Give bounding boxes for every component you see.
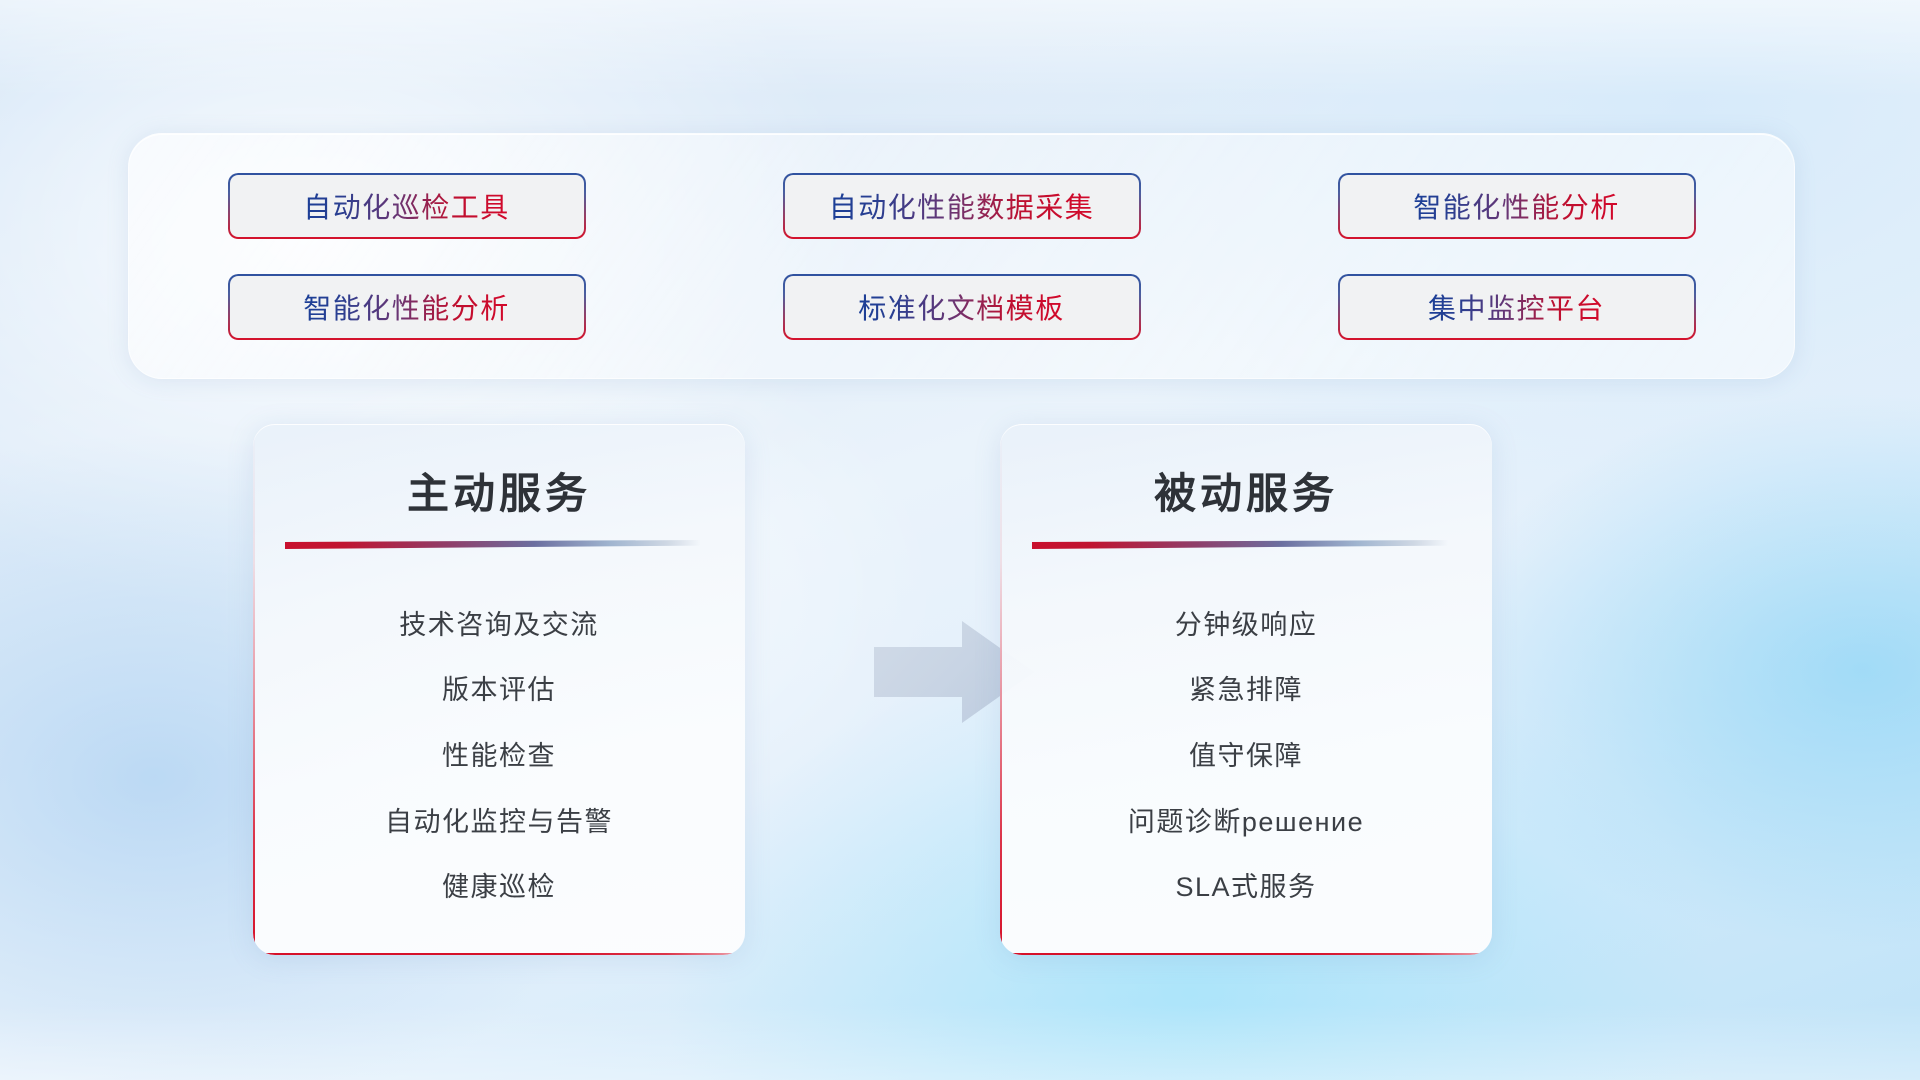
list-item: 分钟级响应 [1175, 603, 1318, 642]
capability-chip-label: 自动化巡检工具 [303, 186, 510, 226]
capability-chip-label: 智能化性能分析 [303, 287, 510, 327]
capability-chip-2[interactable]: 自动化性能数据采集 [783, 173, 1141, 239]
capability-chip-4[interactable]: 智能化性能分析 [228, 274, 586, 340]
list-item: SLA式服务 [1175, 865, 1316, 904]
capability-chips-grid: 自动化巡检工具 自动化性能数据采集 智能化性能分析 智能化性能分析 标准化文档模… [129, 134, 1794, 378]
list-item: 性能检查 [442, 734, 556, 773]
capability-chip-5[interactable]: 标准化文档模板 [783, 274, 1141, 340]
capability-chip-label: 自动化性能数据采集 [829, 186, 1095, 226]
card-title-divider [285, 540, 701, 549]
list-item: 紧急排障 [1189, 668, 1303, 707]
card-title-divider [1032, 540, 1448, 549]
capability-chips-panel: 自动化巡检工具 自动化性能数据采集 智能化性能分析 智能化性能分析 标准化文档模… [128, 133, 1795, 379]
list-item: 值守保障 [1189, 734, 1303, 773]
card-title: 主动服务 [253, 460, 745, 521]
capability-chip-6[interactable]: 集中监控平台 [1338, 274, 1696, 340]
list-item: 自动化监控与告警 [385, 800, 613, 839]
list-item: 技术咨询及交流 [399, 603, 599, 642]
card-title: 被动服务 [1000, 460, 1492, 521]
card-item-list: 分钟级响应 紧急排障 值守保障 问题诊断решение SLA式服务 [1000, 570, 1492, 941]
service-card-passive: 被动服务 分钟级响应 紧急排障 值守保障 问题诊断решение SLA式服务 [1000, 424, 1492, 955]
list-item: 问题诊断решение [1128, 800, 1364, 839]
card-item-list: 技术咨询及交流 版本评估 性能检查 自动化监控与告警 健康巡检 [253, 570, 745, 941]
capability-chip-3[interactable]: 智能化性能分析 [1338, 173, 1696, 239]
capability-chip-label: 智能化性能分析 [1413, 186, 1620, 226]
capability-chip-1[interactable]: 自动化巡检工具 [228, 173, 586, 239]
service-card-active: 主动服务 技术咨询及交流 版本评估 性能检查 自动化监控与告警 健康巡检 [253, 424, 745, 955]
capability-chip-label: 集中监控平台 [1428, 287, 1605, 327]
list-item: 健康巡检 [442, 865, 556, 904]
capability-chip-label: 标准化文档模板 [858, 287, 1065, 327]
list-item: 版本评估 [442, 668, 556, 707]
